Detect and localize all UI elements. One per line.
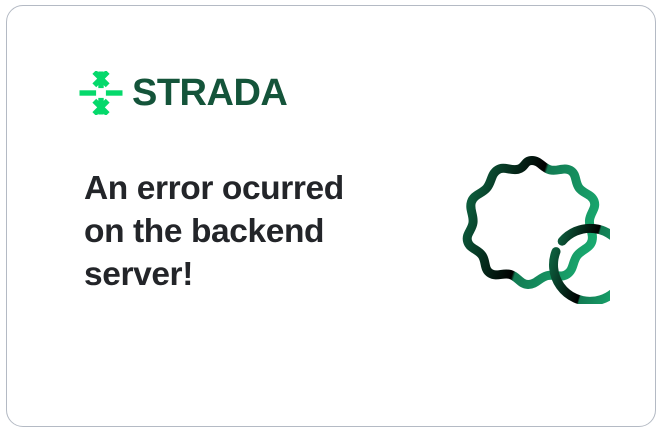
strada-asterisk-icon [79,71,123,115]
gear-cog-icon [454,148,610,304]
brand-lockup: STRADA [79,69,287,117]
error-headline: An error ocurred on the backend server! [84,167,384,296]
error-card: STRADA An error ocurred on the backend s… [6,5,656,427]
brand-wordmark: STRADA [132,74,287,112]
